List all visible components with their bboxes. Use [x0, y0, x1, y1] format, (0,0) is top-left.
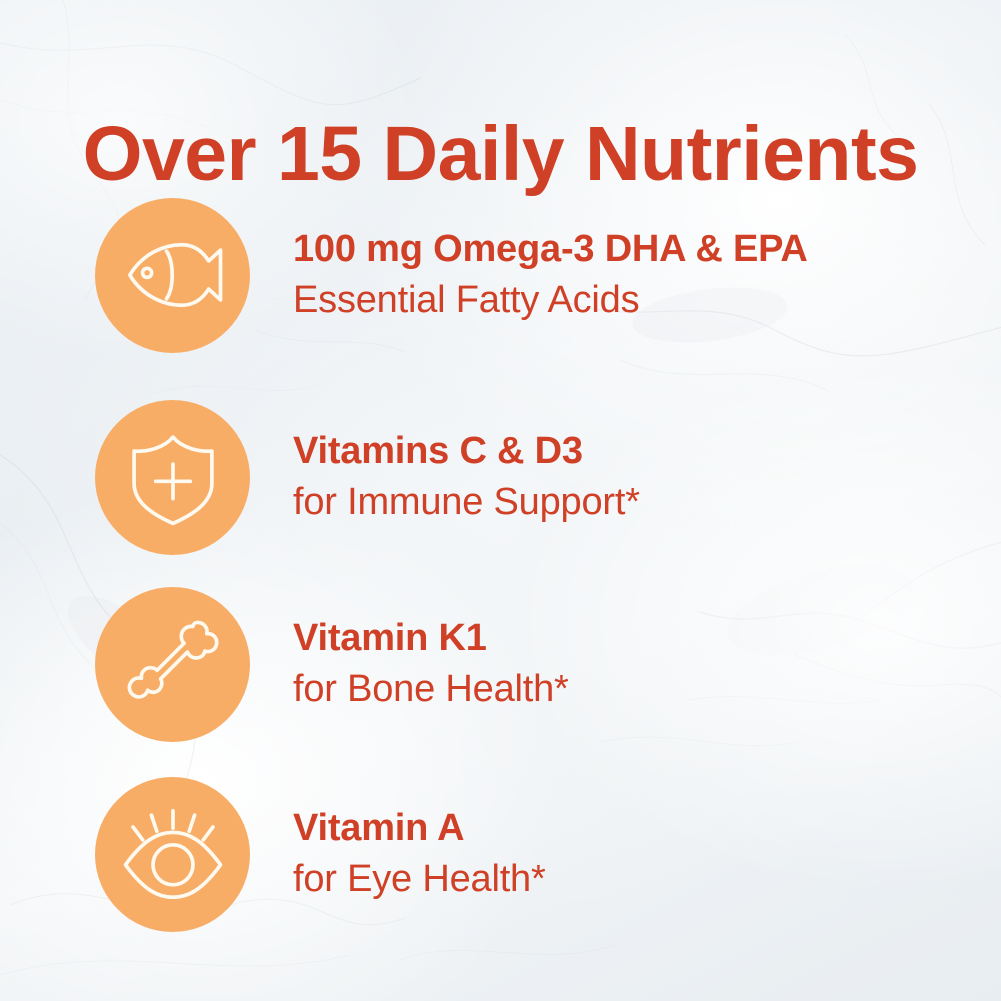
- eye-icon: [119, 800, 227, 908]
- list-item-copy: 100 mg Omega-3 DHA & EPA Essential Fatty…: [293, 224, 808, 325]
- fish-icon-badge: [95, 198, 250, 353]
- list-item-primary: Vitamin K1: [293, 613, 569, 664]
- list-item: Vitamin A for Eye Health*: [95, 776, 975, 932]
- list-item-secondary: for Immune Support*: [293, 477, 640, 528]
- list-item: Vitamin K1 for Bone Health*: [95, 586, 975, 742]
- list-item-copy: Vitamin K1 for Bone Health*: [293, 613, 569, 714]
- nutrient-infographic: Over 15 Daily Nutrients 100 mg Omega-3 D…: [0, 0, 1001, 1001]
- list-item-copy: Vitamin A for Eye Health*: [293, 803, 546, 904]
- list-item-primary: Vitamin A: [293, 803, 546, 854]
- eye-icon-badge: [95, 777, 250, 932]
- shield-plus-icon-badge: [95, 400, 250, 555]
- list-item-secondary: for Bone Health*: [293, 664, 569, 715]
- list-item-secondary: for Eye Health*: [293, 854, 546, 905]
- shield-plus-icon: [119, 423, 227, 531]
- feature-list: 100 mg Omega-3 DHA & EPA Essential Fatty…: [0, 0, 1001, 1001]
- fish-icon: [119, 221, 227, 329]
- list-item-primary: Vitamins C & D3: [293, 426, 640, 477]
- list-item-primary: 100 mg Omega-3 DHA & EPA: [293, 224, 808, 275]
- list-item-copy: Vitamins C & D3 for Immune Support*: [293, 426, 640, 527]
- list-item: 100 mg Omega-3 DHA & EPA Essential Fatty…: [95, 197, 975, 353]
- list-item-secondary: Essential Fatty Acids: [293, 275, 808, 326]
- list-item: Vitamins C & D3 for Immune Support*: [95, 399, 975, 555]
- bone-icon-badge: [95, 587, 250, 742]
- bone-icon: [119, 610, 227, 718]
